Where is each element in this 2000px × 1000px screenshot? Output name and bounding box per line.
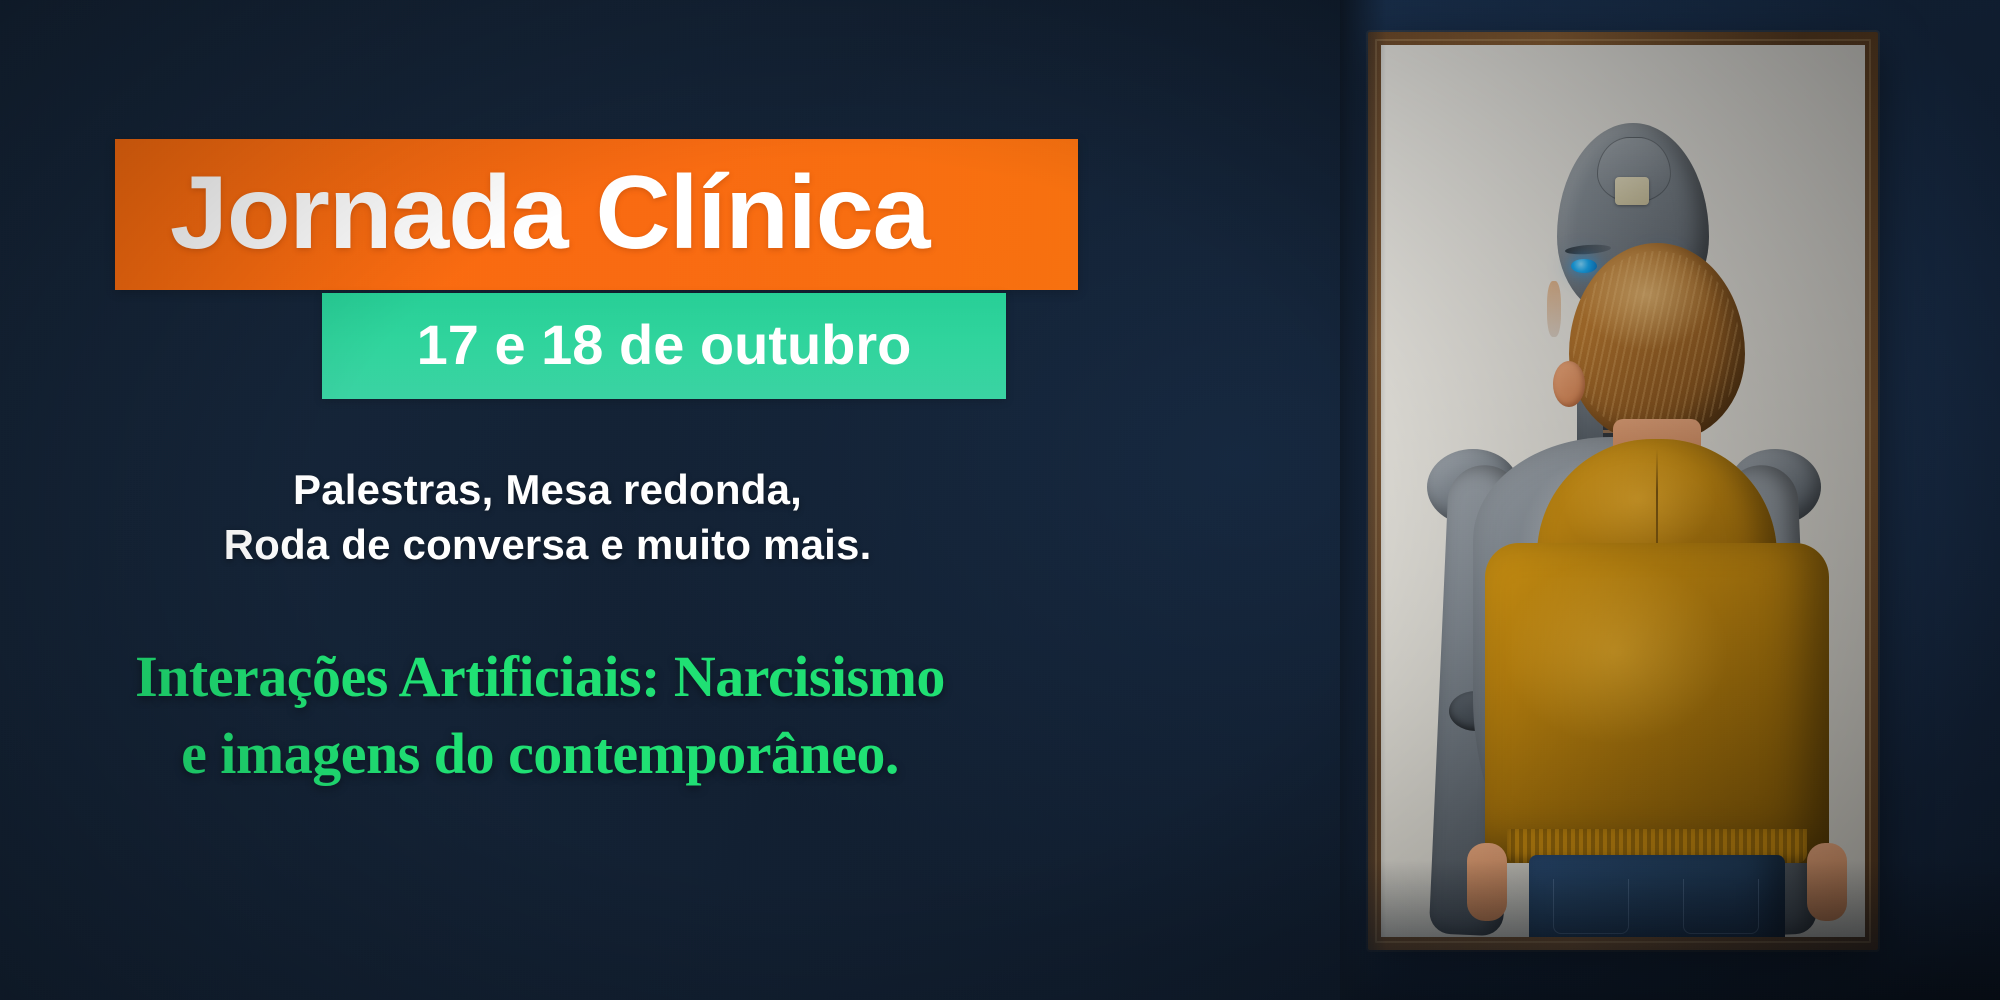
event-date: 17 e 18 de outubro	[322, 317, 1006, 373]
boy-figure	[1477, 243, 1837, 937]
boy-hand-left	[1467, 843, 1507, 921]
title-band: Jornada Clínica	[115, 139, 1078, 290]
boy-hand-right	[1807, 843, 1847, 921]
subheading-line-2: Roda de conversa e muito mais.	[0, 518, 1095, 573]
boy-ear	[1553, 361, 1585, 407]
event-subheading: Palestras, Mesa redonda, Roda de convers…	[0, 463, 1095, 572]
boy-jeans-pocket-left	[1553, 879, 1629, 934]
event-headline: Interações Artificiais: Narcisismo e ima…	[0, 638, 1080, 792]
headline-line-1: Interações Artificiais: Narcisismo	[0, 638, 1080, 715]
boy-jeans-pocket-right	[1683, 879, 1759, 934]
boy-hoodie	[1485, 543, 1829, 863]
robot-forehead-crest-icon	[1615, 177, 1649, 205]
boy-hair	[1569, 243, 1745, 441]
headline-line-2: e imagens do contemporâneo.	[0, 715, 1080, 792]
subheading-line-1: Palestras, Mesa redonda,	[0, 463, 1095, 518]
banner-photo	[1340, 0, 2000, 1000]
picture-frame	[1368, 32, 1878, 950]
page-title: Jornada Clínica	[170, 160, 929, 264]
date-band: 17 e 18 de outubro	[322, 293, 1006, 399]
banner-text-column: Jornada Clínica 17 e 18 de outubro Pales…	[0, 0, 1340, 1000]
event-banner: Jornada Clínica 17 e 18 de outubro Pales…	[0, 0, 2000, 1000]
painting-canvas	[1381, 45, 1865, 937]
